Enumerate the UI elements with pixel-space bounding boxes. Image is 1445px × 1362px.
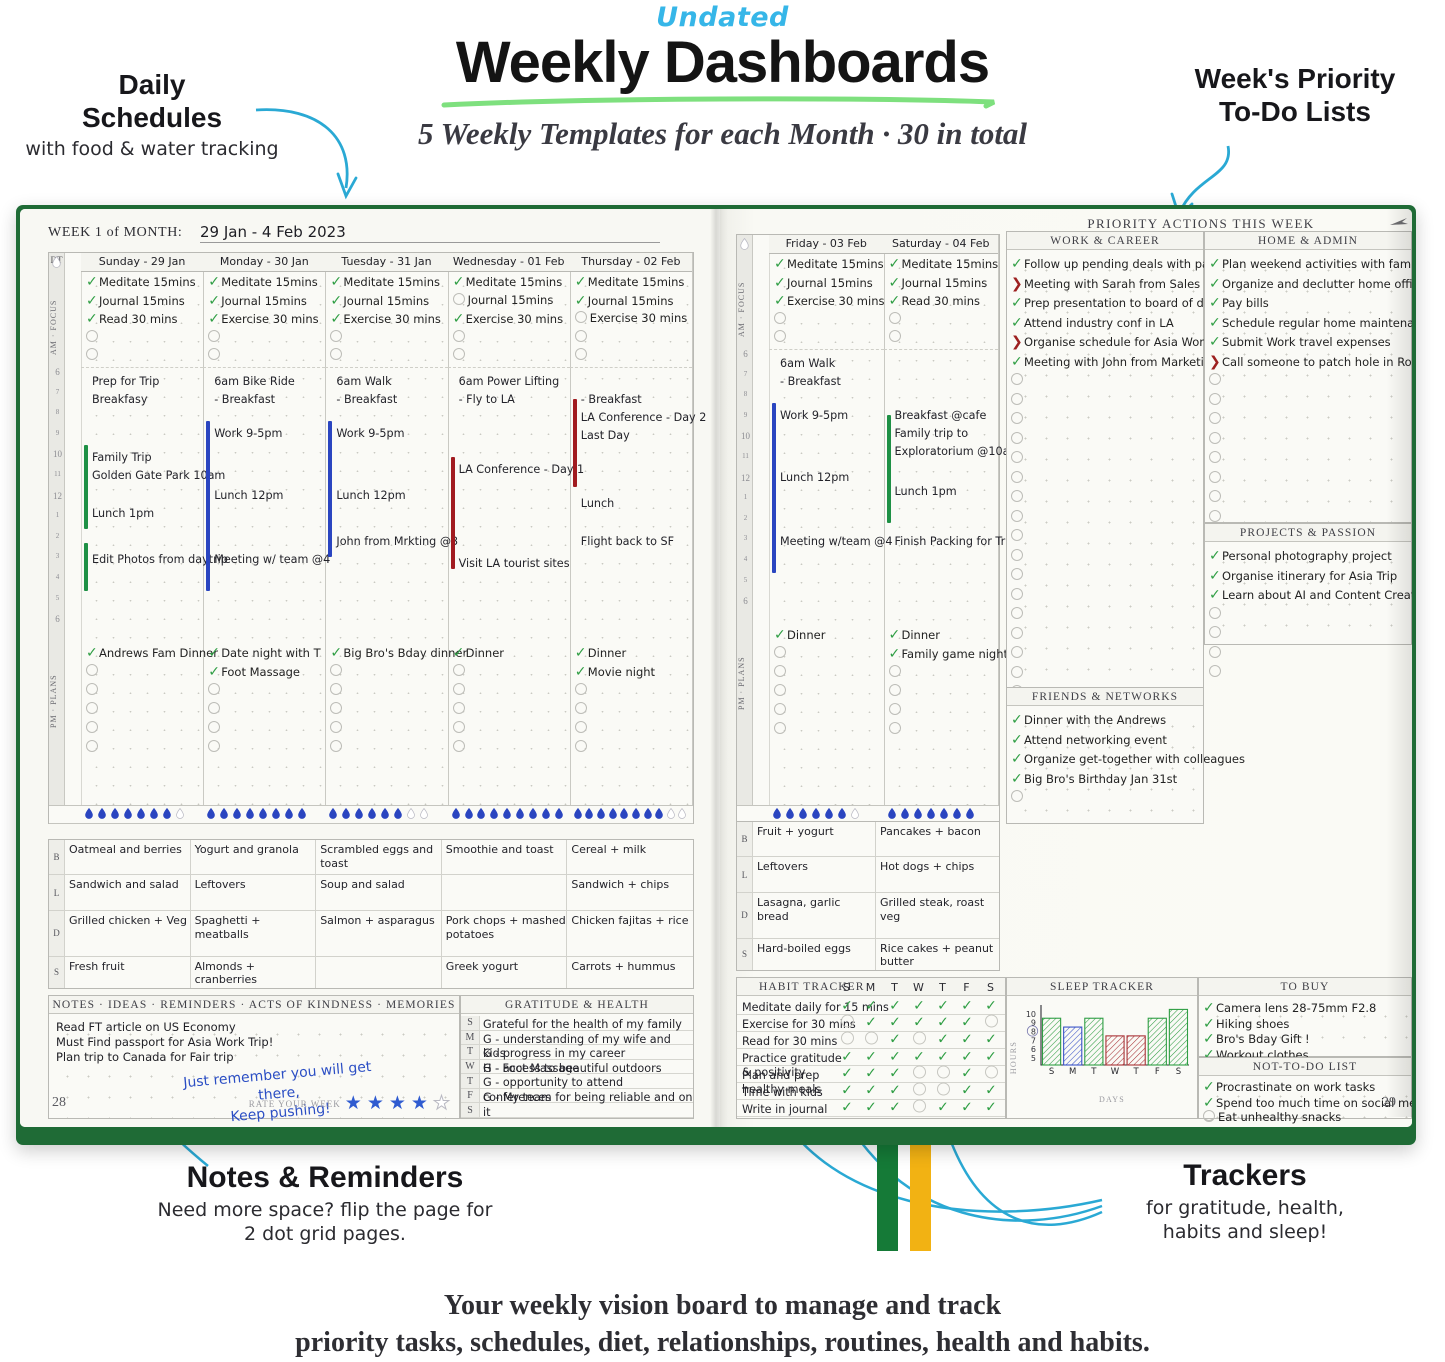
pm-plan-item[interactable] (86, 683, 101, 697)
water-drop-filled-icon[interactable] (773, 808, 781, 819)
note-line[interactable]: Read FT article on US Economy (56, 1020, 236, 1034)
meal-cell[interactable]: Scrambled eggs and toast (316, 840, 442, 874)
water-drop-filled-icon[interactable] (259, 808, 267, 819)
am-focus-item[interactable] (330, 330, 345, 344)
moved-arrow-icon[interactable]: ❯ (1011, 334, 1024, 350)
water-drop-filled-icon[interactable] (490, 808, 498, 819)
meal-cell[interactable] (316, 957, 442, 988)
check-icon[interactable]: ✓ (889, 293, 902, 309)
priority-item-empty[interactable] (1011, 627, 1026, 641)
meal-cell[interactable]: Smoothie and toast (442, 840, 568, 874)
water-drop-filled-icon[interactable] (901, 808, 909, 819)
priority-item-empty[interactable] (1011, 373, 1026, 387)
priority-item-empty[interactable] (1011, 471, 1026, 485)
water-drop-filled-icon[interactable] (966, 808, 974, 819)
priority-item[interactable]: ✓Submit Work travel expenses (1209, 334, 1391, 350)
habit-check-icon[interactable]: ✓ (835, 1066, 859, 1083)
am-focus-item[interactable] (208, 348, 223, 362)
meal-cell[interactable]: Carrots + hummus (567, 957, 693, 988)
check-icon[interactable]: ✓ (1209, 587, 1222, 603)
am-focus-item[interactable]: ✓Meditate 15mins (889, 256, 999, 272)
habit-check-icon[interactable]: ✓ (955, 1083, 979, 1100)
priority-item[interactable]: ✓Schedule regular home maintenance (1209, 315, 1412, 331)
water-drop-filled-icon[interactable] (620, 808, 628, 819)
water-drop-filled-icon[interactable] (85, 808, 93, 819)
habit-check-icon[interactable]: ✓ (979, 998, 1003, 1014)
priority-item-empty[interactable] (1011, 549, 1026, 563)
check-icon[interactable]: ✓ (86, 293, 99, 309)
moved-arrow-icon[interactable]: ❯ (1011, 276, 1024, 292)
star-icon[interactable]: ★ (411, 1094, 429, 1113)
am-focus-item[interactable]: ✓Meditate 15mins (86, 274, 196, 290)
pm-plan-item[interactable] (774, 646, 789, 660)
habit-check-icon[interactable]: ✓ (859, 1066, 883, 1083)
priority-item[interactable]: ✓Learn about AI and Content Creation (1209, 587, 1412, 603)
priority-item-empty[interactable] (1011, 529, 1026, 543)
check-icon[interactable]: ✓ (575, 664, 588, 680)
pm-plan-item[interactable] (86, 721, 101, 735)
habit-check-icon[interactable]: ✓ (979, 1083, 1003, 1100)
priority-item-empty[interactable] (1209, 471, 1224, 485)
priority-item[interactable]: ✓Meeting with John from Marketing (1011, 354, 1218, 370)
meal-cell[interactable]: Hard-boiled eggs (753, 939, 876, 970)
meal-cell[interactable]: Leftovers (191, 875, 317, 909)
pm-plan-item[interactable] (575, 702, 590, 716)
star-icon[interactable]: ★ (345, 1094, 363, 1113)
meal-cell[interactable]: Oatmeal and berries (65, 840, 191, 874)
water-drop-filled-icon[interactable] (503, 808, 511, 819)
am-focus-item[interactable] (575, 330, 590, 344)
priority-item-empty[interactable] (1209, 510, 1224, 524)
meal-cell[interactable]: Leftovers (753, 857, 876, 891)
habit-check-icon[interactable]: ✓ (883, 1015, 907, 1032)
check-icon[interactable]: ✓ (1203, 1016, 1216, 1032)
meal-cell[interactable] (442, 875, 568, 909)
habit-check-icon[interactable]: ✓ (931, 1015, 955, 1032)
am-focus-item[interactable]: ✓Journal 15mins (208, 293, 307, 309)
pm-plan-item[interactable]: ✓Date night with T (208, 645, 320, 661)
meal-cell[interactable]: Spaghetti + meatballs (191, 911, 317, 956)
water-drop-filled-icon[interactable] (298, 808, 306, 819)
water-drop-empty-icon[interactable] (176, 808, 184, 819)
pm-plan-item[interactable] (453, 740, 468, 754)
check-icon[interactable]: ✓ (86, 645, 99, 661)
pm-plan-item[interactable] (208, 740, 223, 754)
check-icon[interactable]: ✓ (1011, 732, 1024, 748)
water-drop-filled-icon[interactable] (233, 808, 241, 819)
gratitude-row[interactable]: MG - understanding of my wife and kidsH … (461, 1031, 693, 1046)
water-drop-filled-icon[interactable] (368, 808, 376, 819)
check-icon[interactable]: ✓ (575, 293, 588, 309)
priority-item-empty[interactable] (1209, 607, 1224, 621)
priority-item-empty[interactable] (1011, 490, 1026, 504)
water-drop-filled-icon[interactable] (914, 808, 922, 819)
pm-plan-item[interactable] (453, 683, 468, 697)
priority-item-empty[interactable] (1209, 490, 1224, 504)
habit-check-icon[interactable]: ✓ (883, 1066, 907, 1083)
check-icon[interactable]: ✓ (1011, 256, 1024, 272)
meal-cell[interactable]: Grilled chicken + Veg (65, 911, 191, 956)
moved-arrow-icon[interactable]: ❯ (1209, 354, 1222, 370)
am-focus-item[interactable]: ✓Meditate 15mins (774, 256, 884, 272)
am-focus-item[interactable]: ✓Journal 15mins (86, 293, 185, 309)
pm-plan-item[interactable] (208, 721, 223, 735)
check-icon[interactable]: ✓ (1011, 712, 1024, 728)
check-icon[interactable]: ✓ (1203, 1095, 1216, 1111)
priority-item-empty[interactable] (1209, 451, 1224, 465)
pm-plan-item[interactable] (889, 684, 904, 698)
water-drop-filled-icon[interactable] (342, 808, 350, 819)
check-icon[interactable]: ✓ (774, 627, 787, 643)
check-icon[interactable]: ✓ (1209, 548, 1222, 564)
pm-plan-item[interactable] (86, 740, 101, 754)
am-focus-item[interactable]: Journal 15mins (453, 293, 554, 307)
check-icon[interactable]: ✓ (889, 627, 902, 643)
am-focus-item[interactable] (86, 330, 101, 344)
pm-plan-item[interactable] (774, 703, 789, 717)
check-icon[interactable]: ✓ (208, 274, 221, 290)
habit-check-icon[interactable]: ✓ (931, 1049, 955, 1065)
priority-item-empty[interactable] (1209, 432, 1224, 446)
pm-plan-item[interactable]: ✓Movie night (575, 664, 655, 680)
habit-empty-icon[interactable] (835, 1032, 859, 1049)
water-drop-filled-icon[interactable] (529, 808, 537, 819)
habit-check-icon[interactable]: ✓ (835, 1100, 859, 1117)
check-icon[interactable]: ✓ (330, 274, 343, 290)
am-focus-item[interactable] (330, 348, 345, 362)
priority-item-empty[interactable] (1011, 568, 1026, 582)
am-focus-item[interactable] (575, 348, 590, 362)
water-drop-filled-icon[interactable] (609, 808, 617, 819)
water-drop-filled-icon[interactable] (597, 808, 605, 819)
habit-check-icon[interactable]: ✓ (931, 1100, 955, 1117)
habit-check-icon[interactable]: ✓ (979, 1032, 1003, 1049)
water-drop-filled-icon[interactable] (542, 808, 550, 819)
water-drop-filled-icon[interactable] (927, 808, 935, 819)
priority-item[interactable]: ✓Neglect self-care (1203, 1126, 1313, 1128)
am-focus-item[interactable] (453, 330, 468, 344)
habit-empty-icon[interactable] (835, 1015, 859, 1032)
habit-check-icon[interactable]: ✓ (955, 998, 979, 1014)
water-drop-empty-icon[interactable] (851, 808, 859, 819)
pm-plan-item[interactable]: ✓Andrews Fam Dinner (86, 645, 218, 661)
pm-plan-item[interactable] (575, 740, 590, 754)
meal-cell[interactable]: Chicken fajitas + rice (567, 911, 693, 956)
star-icon[interactable]: ★ (389, 1094, 407, 1113)
water-drop-filled-icon[interactable] (381, 808, 389, 819)
priority-item[interactable]: ✓Organize and declutter home office (1209, 276, 1412, 292)
am-focus-item[interactable]: ✓Meditate 15mins (453, 274, 563, 290)
am-focus-item[interactable] (86, 348, 101, 362)
water-drop-filled-icon[interactable] (555, 808, 563, 819)
am-focus-item[interactable]: ✓Journal 15mins (575, 293, 674, 309)
priority-item-empty[interactable] (1011, 432, 1026, 446)
water-tracker-icon[interactable] (740, 238, 749, 250)
water-drop-filled-icon[interactable] (163, 808, 171, 819)
habit-check-icon[interactable]: ✓ (835, 1083, 859, 1100)
meal-cell[interactable]: Rice cakes + peanut butter (876, 939, 999, 970)
meal-cell[interactable]: Fruit + yogurt (753, 822, 876, 856)
pm-plan-item[interactable] (208, 702, 223, 716)
check-icon[interactable]: ✓ (1011, 354, 1024, 370)
pm-plan-item[interactable]: ✓Foot Massage (208, 664, 300, 680)
meal-cell[interactable]: Pancakes + bacon (876, 822, 999, 856)
water-drop-empty-icon[interactable] (678, 808, 686, 819)
pm-plan-item[interactable] (774, 722, 789, 736)
check-icon[interactable]: ✓ (774, 275, 787, 291)
check-icon[interactable]: ✓ (208, 664, 221, 680)
habit-check-icon[interactable]: ✓ (883, 1100, 907, 1117)
check-icon[interactable]: ✓ (889, 275, 902, 291)
water-drop-filled-icon[interactable] (940, 808, 948, 819)
gratitude-row[interactable]: TG - opportunity to attend conferences (461, 1074, 693, 1089)
priority-item[interactable]: ✓Plan weekend activities with family (1209, 256, 1412, 272)
am-focus-item[interactable]: ✓Journal 15mins (889, 275, 988, 291)
priority-item-empty[interactable] (1209, 393, 1224, 407)
am-focus-item[interactable]: ✓Read 30 mins (86, 311, 178, 327)
habit-check-icon[interactable]: ✓ (907, 1015, 931, 1032)
pm-plan-item[interactable] (774, 665, 789, 679)
habit-check-icon[interactable]: ✓ (907, 998, 931, 1014)
habit-check-icon[interactable]: ✓ (955, 1066, 979, 1083)
water-drop-empty-icon[interactable] (407, 808, 415, 819)
habit-check-icon[interactable]: ✓ (955, 1032, 979, 1049)
priority-item[interactable]: Eat unhealthy snacks (1203, 1110, 1341, 1124)
water-drop-filled-icon[interactable] (644, 808, 652, 819)
priority-item[interactable]: ✓Attend networking event (1011, 732, 1167, 748)
meal-cell[interactable]: Sandwich + chips (567, 875, 693, 909)
am-focus-item[interactable]: ✓Exercise 30 mins (453, 311, 563, 327)
habit-check-icon[interactable]: ✓ (955, 1015, 979, 1032)
check-icon[interactable]: ✓ (1203, 1126, 1216, 1128)
habit-empty-icon[interactable] (907, 1066, 931, 1083)
habit-check-icon[interactable]: ✓ (859, 1049, 883, 1065)
pm-plan-item[interactable] (889, 722, 904, 736)
habit-check-icon[interactable]: ✓ (835, 998, 859, 1014)
check-icon[interactable]: ✓ (1203, 1031, 1216, 1047)
priority-item[interactable]: ✓Attend industry conf in LA (1011, 315, 1174, 331)
habit-check-icon[interactable]: ✓ (859, 998, 883, 1014)
pm-plan-item[interactable] (330, 740, 345, 754)
priority-item-empty[interactable] (1011, 393, 1026, 407)
am-focus-item[interactable] (774, 330, 789, 344)
water-drop-filled-icon[interactable] (655, 808, 663, 819)
water-drop-filled-icon[interactable] (329, 808, 337, 819)
priority-item[interactable]: ❯Meeting with Sarah from Sales (1011, 276, 1200, 292)
pm-plan-item[interactable]: ✓Dinner (575, 645, 626, 661)
water-drop-filled-icon[interactable] (888, 808, 896, 819)
gratitude-row[interactable]: TG - progress in my career (461, 1045, 693, 1060)
meal-cell[interactable]: Sandwich and salad (65, 875, 191, 909)
habit-empty-icon[interactable] (907, 1032, 931, 1049)
water-tracker-icon[interactable] (52, 256, 61, 268)
priority-item[interactable]: ✓Organise itinerary for Asia Trip (1209, 568, 1397, 584)
water-drop-filled-icon[interactable] (825, 808, 833, 819)
check-icon[interactable]: ✓ (1209, 568, 1222, 584)
water-drop-filled-icon[interactable] (812, 808, 820, 819)
am-focus-item[interactable] (774, 312, 789, 326)
pm-plan-item[interactable] (330, 721, 345, 735)
pm-plan-item[interactable] (889, 703, 904, 717)
water-drop-filled-icon[interactable] (150, 808, 158, 819)
check-icon[interactable]: ✓ (208, 645, 221, 661)
water-drop-filled-icon[interactable] (124, 808, 132, 819)
gratitude-row[interactable]: SGrateful for the health of my family (461, 1016, 693, 1031)
check-icon[interactable]: ✓ (208, 311, 221, 327)
habit-empty-icon[interactable] (931, 1066, 955, 1083)
meal-cell[interactable]: Yogurt and granola (191, 840, 317, 874)
habit-check-icon[interactable]: ✓ (883, 1032, 907, 1049)
priority-item[interactable]: ✓Organize get-together with colleagues (1011, 751, 1245, 767)
habit-empty-icon[interactable] (931, 1083, 955, 1100)
check-icon[interactable]: ✓ (453, 311, 466, 327)
check-icon[interactable]: ✓ (1011, 771, 1024, 787)
check-icon[interactable]: ✓ (330, 311, 343, 327)
pm-plan-item[interactable] (774, 684, 789, 698)
am-focus-item[interactable] (889, 312, 904, 326)
am-focus-item[interactable]: ✓Meditate 15mins (330, 274, 440, 290)
priority-item[interactable]: ✓Dinner with the Andrews (1011, 712, 1166, 728)
week-date-range[interactable]: 29 Jan - 4 Feb 2023 (200, 223, 660, 243)
am-focus-item[interactable]: Exercise 30 mins (575, 311, 687, 325)
check-icon[interactable]: ✓ (1209, 276, 1222, 292)
rate-your-week[interactable]: RATE YOUR WEEK★★★★★ (249, 1094, 451, 1113)
check-icon[interactable]: ✓ (1203, 1079, 1216, 1095)
water-drop-filled-icon[interactable] (632, 808, 640, 819)
habit-check-icon[interactable]: ✓ (883, 998, 907, 1014)
meal-cell[interactable]: Hot dogs + chips (876, 857, 999, 891)
priority-item-empty[interactable] (1209, 665, 1224, 679)
pm-plan-item[interactable] (575, 721, 590, 735)
habit-check-icon[interactable]: ✓ (931, 1032, 955, 1049)
priority-item-empty[interactable] (1209, 412, 1224, 426)
water-drop-filled-icon[interactable] (786, 808, 794, 819)
check-icon[interactable]: ✓ (453, 274, 466, 290)
check-icon[interactable]: ✓ (774, 293, 787, 309)
habit-check-icon[interactable]: ✓ (979, 1100, 1003, 1117)
priority-item-empty[interactable] (1011, 451, 1026, 465)
priority-item[interactable]: ❯Organise schedule for Asia Work Trip (1011, 334, 1235, 350)
priority-item[interactable]: ✓Bro's Bday Gift ! (1203, 1031, 1310, 1047)
pm-plan-item[interactable] (889, 665, 904, 679)
pm-plan-item[interactable] (575, 683, 590, 697)
water-drop-filled-icon[interactable] (799, 808, 807, 819)
priority-item-empty[interactable] (1011, 790, 1026, 804)
am-focus-item[interactable] (889, 330, 904, 344)
check-icon[interactable]: ✓ (889, 256, 902, 272)
habit-empty-icon[interactable] (907, 1083, 931, 1100)
am-focus-item[interactable] (453, 348, 468, 362)
am-focus-item[interactable]: ✓Exercise 30 mins (330, 311, 440, 327)
meal-cell[interactable]: Lasagna, garlic bread (753, 893, 876, 938)
priority-item[interactable]: ✓Spend too much time on social media (1203, 1095, 1412, 1111)
am-focus-item[interactable]: ✓Read 30 mins (889, 293, 981, 309)
habit-check-icon[interactable]: ✓ (931, 998, 955, 1014)
priority-item[interactable]: ✓Big Bro's Birthday Jan 31st (1011, 771, 1177, 787)
pm-plan-item[interactable] (86, 702, 101, 716)
meal-cell[interactable]: Soup and salad (316, 875, 442, 909)
am-focus-item[interactable] (208, 330, 223, 344)
water-drop-filled-icon[interactable] (207, 808, 215, 819)
check-icon[interactable]: ✓ (1209, 295, 1222, 311)
habit-check-icon[interactable]: ✓ (907, 1049, 931, 1065)
habit-check-icon[interactable]: ✓ (955, 1049, 979, 1065)
water-drop-filled-icon[interactable] (98, 808, 106, 819)
priority-item[interactable]: ✓Personal photography project (1209, 548, 1392, 564)
check-icon[interactable]: ✓ (86, 274, 99, 290)
am-focus-item[interactable]: ✓Exercise 30 mins (774, 293, 884, 309)
priority-item-empty[interactable] (1209, 646, 1224, 660)
habit-check-icon[interactable]: ✓ (859, 1100, 883, 1117)
meal-cell[interactable]: Almonds + cranberries (191, 957, 317, 988)
am-focus-item[interactable]: ✓Journal 15mins (774, 275, 873, 291)
priority-item-empty[interactable] (1011, 510, 1026, 524)
water-drop-filled-icon[interactable] (516, 808, 524, 819)
water-drop-filled-icon[interactable] (585, 808, 593, 819)
priority-item-empty[interactable] (1209, 373, 1224, 387)
water-drop-filled-icon[interactable] (220, 808, 228, 819)
check-icon[interactable]: ✓ (1209, 315, 1222, 331)
meal-cell[interactable]: Greek yogurt (442, 957, 568, 988)
water-drop-filled-icon[interactable] (465, 808, 473, 819)
habit-empty-icon[interactable] (859, 1032, 883, 1049)
habit-check-icon[interactable]: ✓ (859, 1015, 883, 1032)
meal-cell[interactable]: Pork chops + mashed potatoes (442, 911, 568, 956)
priority-item[interactable]: ✓Procrastinate on work tasks (1203, 1079, 1375, 1095)
am-focus-item[interactable]: ✓Meditate 15mins (208, 274, 318, 290)
habit-empty-icon[interactable] (907, 1100, 931, 1117)
water-drop-filled-icon[interactable] (574, 808, 582, 819)
priority-item-empty[interactable] (1209, 626, 1224, 640)
check-icon[interactable]: ✓ (1209, 256, 1222, 272)
pm-plan-item[interactable]: ✓Dinner (774, 627, 825, 643)
water-drop-filled-icon[interactable] (272, 808, 280, 819)
am-focus-item[interactable]: ✓Meditate 15mins (575, 274, 685, 290)
priority-item-empty[interactable] (1011, 412, 1026, 426)
habit-check-icon[interactable]: ✓ (835, 1049, 859, 1065)
priority-item[interactable]: ❯Call someone to patch hole in Roof (1209, 354, 1412, 370)
check-icon[interactable]: ✓ (453, 645, 466, 661)
water-drop-empty-icon[interactable] (420, 808, 428, 819)
water-drop-filled-icon[interactable] (452, 808, 460, 819)
water-drop-filled-icon[interactable] (394, 808, 402, 819)
priority-item[interactable]: ✓Hiking shoes (1203, 1016, 1289, 1032)
pm-plan-item[interactable]: ✓Family game night (889, 646, 1009, 662)
meal-cell[interactable]: Salmon + asparagus (316, 911, 442, 956)
pm-plan-item[interactable]: ✓Dinner (889, 627, 940, 643)
check-icon[interactable]: ✓ (208, 293, 221, 309)
star-icon[interactable]: ★ (367, 1094, 385, 1113)
pm-plan-item[interactable] (330, 702, 345, 716)
am-focus-item[interactable]: ✓Journal 15mins (330, 293, 429, 309)
water-drop-filled-icon[interactable] (838, 808, 846, 819)
note-line[interactable]: Plan trip to Canada for Fair trip (56, 1050, 234, 1064)
pm-plan-item[interactable] (453, 664, 468, 678)
habit-check-icon[interactable]: ✓ (859, 1083, 883, 1100)
check-icon[interactable]: ✓ (889, 646, 902, 662)
water-drop-filled-icon[interactable] (953, 808, 961, 819)
meal-cell[interactable]: Grilled steak, roast veg (876, 893, 999, 938)
habit-empty-icon[interactable] (979, 1066, 1003, 1083)
check-icon[interactable]: ✓ (1011, 751, 1024, 767)
check-icon[interactable]: ✓ (1011, 295, 1024, 311)
note-line[interactable]: Must Find passport for Asia Work Trip! (56, 1035, 273, 1049)
priority-item[interactable]: ✓Camera lens 28-75mm F2.8 (1203, 1000, 1376, 1016)
check-icon[interactable]: ✓ (86, 311, 99, 327)
pm-plan-item[interactable] (453, 721, 468, 735)
meal-cell[interactable]: Fresh fruit (65, 957, 191, 988)
star-icon[interactable]: ★ (433, 1094, 451, 1113)
